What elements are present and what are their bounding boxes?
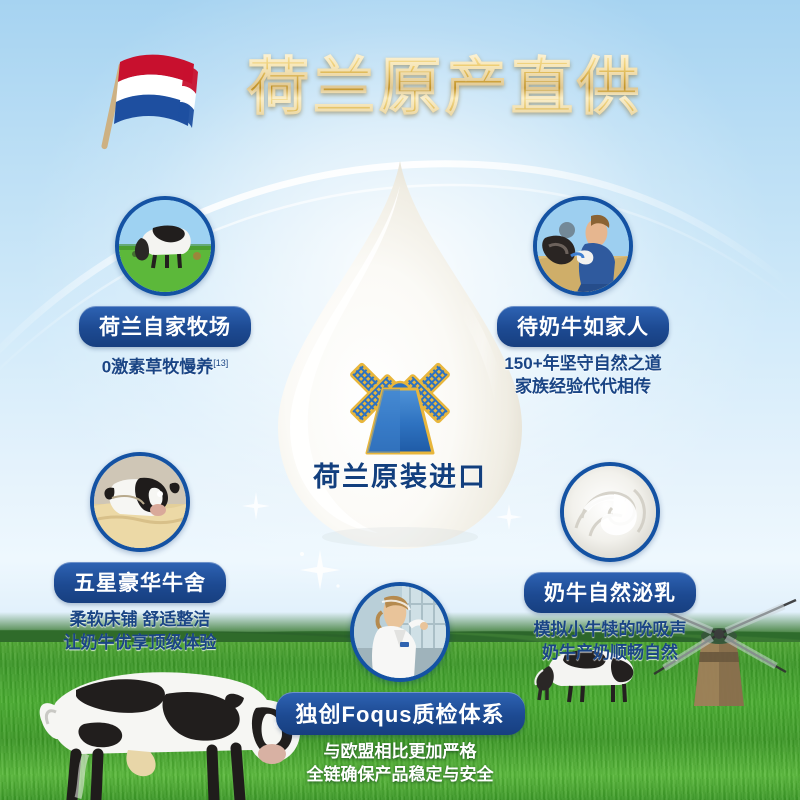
grazing-cow-photo: [115, 196, 215, 296]
milk-swirl-photo: [560, 462, 660, 562]
feature-subtitle: 与欧盟相比更加严格 全链确保产品稳定与安全: [275, 740, 525, 786]
page-title: 荷兰原产直供: [205, 46, 685, 130]
feature-title-pill: 奶牛自然泌乳: [524, 572, 696, 613]
header: 荷兰原产直供: [0, 18, 800, 128]
feature-subtitle-line: 全链确保产品稳定与安全: [275, 763, 525, 786]
feature-five-star-barn: 五星豪华牛舍 柔软床铺 舒适整洁 让奶牛优享顶级体验: [15, 452, 265, 654]
farmer-feeding-calf-photo: [533, 196, 633, 296]
feature-title-pill: 荷兰自家牧场: [79, 306, 251, 347]
feature-superscript: [13]: [213, 358, 228, 368]
feature-subtitle-line: 与欧盟相比更加严格: [275, 740, 525, 763]
feature-subtitle-line: 0激素草牧慢养: [102, 358, 213, 377]
feature-subtitle: 0激素草牧慢养[13]: [40, 352, 290, 379]
feature-title-pill: 五星豪华牛舍: [54, 562, 226, 603]
feature-subtitle: 柔软床铺 舒适整洁 让奶牛优享顶级体验: [15, 608, 265, 654]
feature-subtitle-line: 让奶牛优享顶级体验: [15, 631, 265, 654]
droplet-label: 荷兰原装进口: [290, 455, 510, 494]
lab-technician-photo: [350, 582, 450, 682]
feature-title-pill: 独创Foqus质检体系: [276, 692, 525, 735]
feature-foqus-quality-system: 独创Foqus质检体系 与欧盟相比更加严格 全链确保产品稳定与安全: [275, 582, 525, 786]
feature-subtitle-line: 柔软床铺 舒适整洁: [15, 608, 265, 631]
dutch-flag-icon: [96, 44, 206, 152]
feature-dutch-own-farm: 荷兰自家牧场 0激素草牧慢养[13]: [40, 196, 290, 379]
feature-subtitle-line: 家族经验代代相传: [458, 375, 708, 398]
feature-subtitle: 150+年坚守自然之道 家族经验代代相传: [458, 352, 708, 398]
feature-title-pill: 待奶牛如家人: [497, 306, 669, 347]
resting-cow-photo: [90, 452, 190, 552]
promo-poster: 荷兰原产直供: [0, 0, 800, 800]
feature-treat-cows-as-family: 待奶牛如家人 150+年坚守自然之道 家族经验代代相传: [458, 196, 708, 398]
feature-subtitle-line: 150+年坚守自然之道: [458, 352, 708, 375]
holstein-cow-icon: [16, 650, 316, 800]
